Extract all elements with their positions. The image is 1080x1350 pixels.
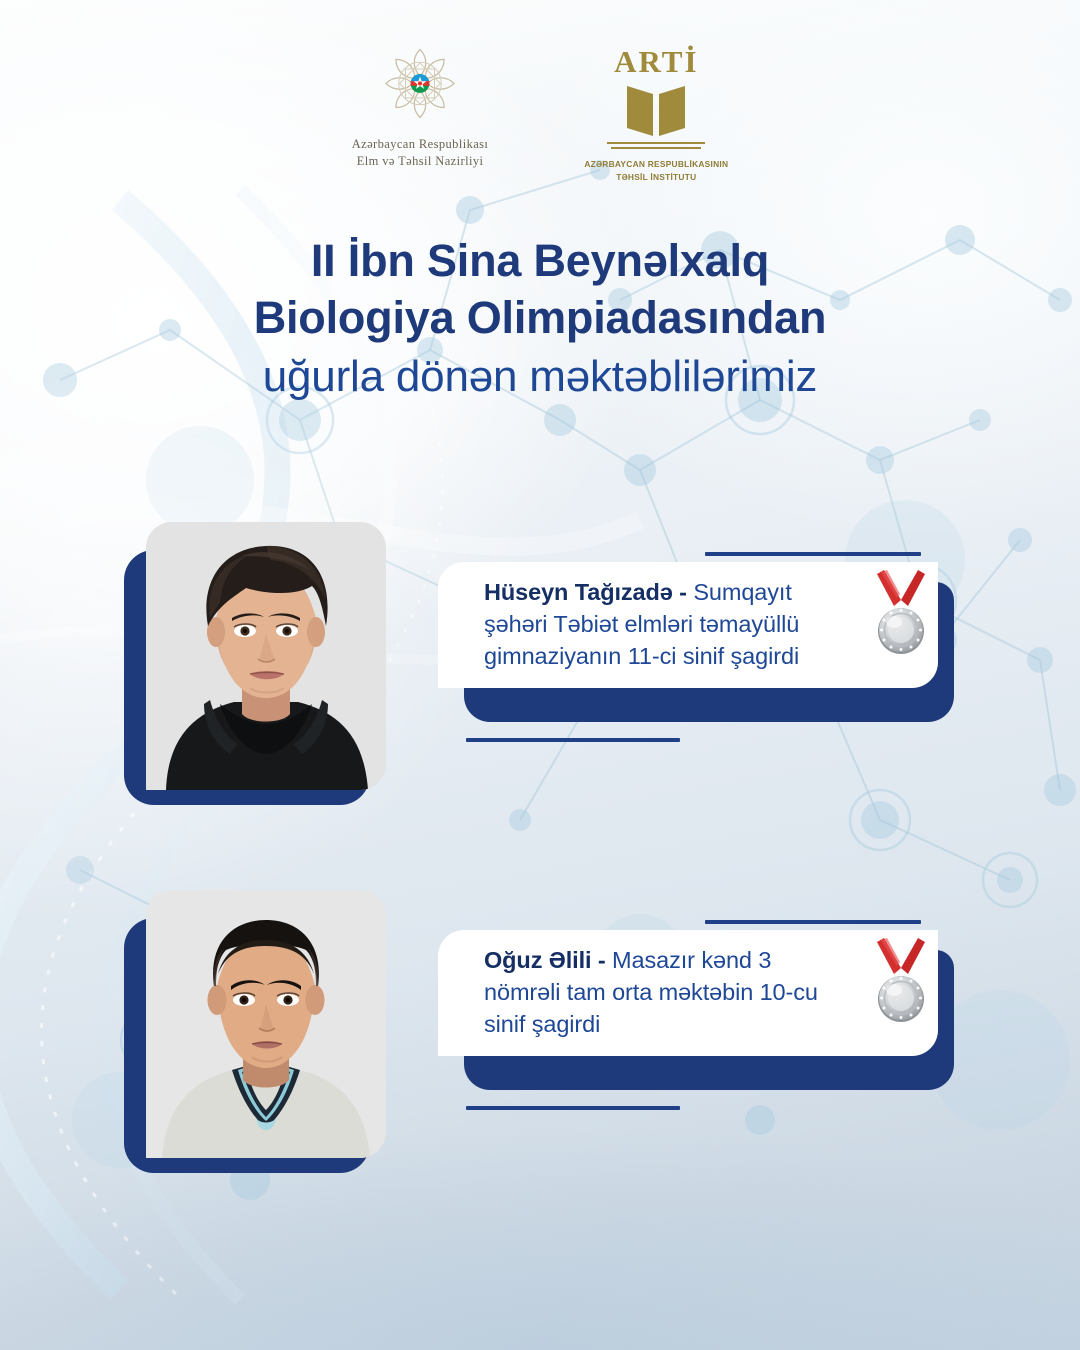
student-name: Hüseyn Tağızadə - <box>484 579 693 605</box>
student-entry: Hüseyn Tağızadə - Sumqayıt şəhəri Təbiət… <box>0 500 1080 840</box>
card-body: Hüseyn Tağızadə - Sumqayıt şəhəri Təbiət… <box>438 562 938 688</box>
student-photo <box>124 890 386 1175</box>
title-line-2: Biologiya Olimpiadasından <box>0 289 1080 346</box>
open-book-icon <box>623 82 689 138</box>
title-line-3: uğurla dönən məktəblilərimiz <box>0 348 1080 405</box>
arti-caption-line1: AZƏRBAYCAN RESPUBLİKASININ <box>584 158 728 171</box>
student-name: Oğuz Əlili - <box>484 947 612 973</box>
ministry-logo-caption: Azərbaycan Respublikası Elm və Təhsil Na… <box>352 136 489 169</box>
title-line-1: II İbn Sina Beynəlxalq <box>0 232 1080 289</box>
ministry-logo: Azərbaycan Respublikası Elm və Təhsil Na… <box>352 46 489 169</box>
azerbaijan-ornamental-rosette-emblem-icon <box>377 46 463 126</box>
page-title: II İbn Sina Beynəlxalq Biologiya Olimpia… <box>0 232 1080 405</box>
card-body: Oğuz Əlili - Masazır kənd 3 nömrəli tam … <box>438 930 938 1056</box>
student-info-card: Hüseyn Tağızadə - Sumqayıt şəhəri Təbiət… <box>438 562 954 722</box>
logo-bar: Azərbaycan Respublikası Elm və Təhsil Na… <box>0 46 1080 183</box>
student-portrait-oguz-elili <box>146 890 386 1158</box>
student-photo <box>124 522 386 807</box>
student-info-text: Hüseyn Tağızadə - Sumqayıt şəhəri Təbiət… <box>438 577 938 673</box>
student-portrait-huseyn-tagizade <box>146 522 386 790</box>
arti-logo: ARTİ AZƏRBAYCAN RESPUBLİKASININ TƏHSİL İ… <box>584 46 728 183</box>
student-entry: Oğuz Əlili - Masazır kənd 3 nömrəli tam … <box>0 868 1080 1208</box>
arti-wordmark: ARTİ <box>614 46 698 77</box>
student-info-card: Oğuz Əlili - Masazır kənd 3 nömrəli tam … <box>438 930 954 1090</box>
arti-caption-line2: TƏHSİL İNSTİTUTU <box>584 171 728 184</box>
silver-medal-icon <box>870 938 932 1030</box>
ministry-caption-line1: Azərbaycan Respublikası <box>352 136 489 153</box>
ministry-caption-line2: Elm və Təhsil Nazirliyi <box>352 153 489 170</box>
arti-divider-rules <box>607 142 705 152</box>
student-info-text: Oğuz Əlili - Masazır kənd 3 nömrəli tam … <box>438 945 938 1041</box>
arti-logo-caption: AZƏRBAYCAN RESPUBLİKASININ TƏHSİL İNSTİT… <box>584 158 728 183</box>
silver-medal-icon <box>870 570 932 662</box>
